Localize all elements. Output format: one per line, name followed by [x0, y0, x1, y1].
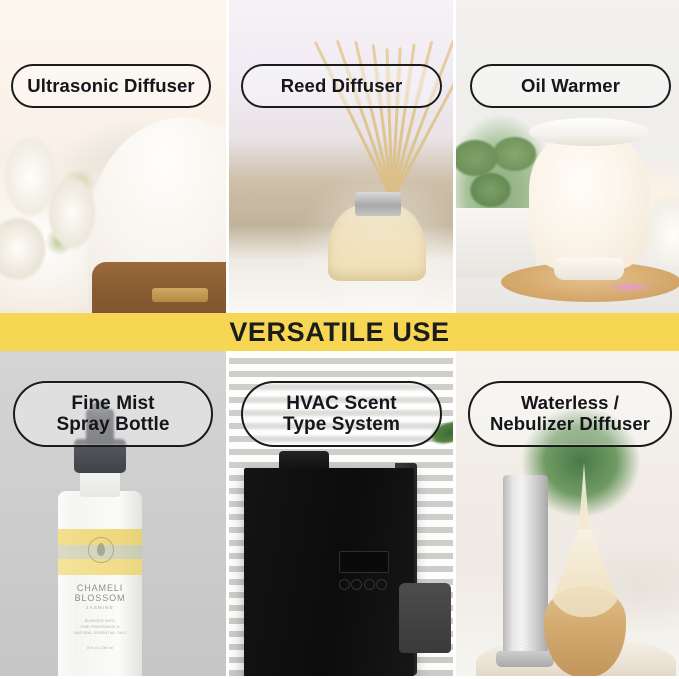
label-seal-icon	[88, 537, 114, 563]
reed-diffuser-cap	[355, 192, 401, 216]
hvac-lcd-display[interactable]	[339, 551, 389, 573]
label-line-1: Waterless /	[490, 393, 650, 414]
label-line-1: HVAC Scent	[283, 393, 400, 414]
nebulizer-indicator-led	[522, 639, 528, 641]
hvac-button-1[interactable]	[339, 579, 350, 590]
candle-glass	[644, 196, 679, 266]
reed-sticks	[337, 20, 447, 200]
bottle-label-description: BLENDED WITH FINE FRAGRANCE & NATURAL ES…	[58, 618, 142, 636]
bottle-label-name: CHAMELI BLOSSOM	[58, 583, 142, 603]
spray-bottle-neck	[80, 469, 120, 497]
hvac-button-4[interactable]	[376, 579, 387, 590]
oil-warmer-led-glow	[608, 282, 652, 292]
label-line-2: Nebulizer Diffuser	[490, 414, 650, 435]
waste-bin	[399, 583, 451, 653]
label-line-1: Fine Mist	[56, 393, 169, 414]
hvac-button-3[interactable]	[364, 579, 375, 590]
label-pill-reed-diffuser: Reed Diffuser	[241, 64, 442, 108]
ultrasonic-diffuser-badge	[152, 288, 208, 302]
nebulizer-glass-spout	[574, 463, 594, 529]
panel-reed-diffuser	[229, 0, 453, 313]
panel-ultrasonic-diffuser	[0, 0, 226, 313]
label-text-ultrasonic-diffuser: Ultrasonic Diffuser	[21, 76, 200, 97]
versatile-use-banner: VERSATILE USE	[0, 313, 679, 351]
label-text-fine-mist-spray-bottle: Fine Mist Spray Bottle	[50, 393, 175, 436]
versatile-use-infographic: CHAMELI BLOSSOM JASMINE BLENDED WITH FIN…	[0, 0, 679, 679]
nebulizer-cylinder-base	[496, 651, 554, 667]
bottle-label-variant: JASMINE	[58, 605, 142, 610]
label-text-oil-warmer: Oil Warmer	[515, 76, 626, 97]
label-text-waterless-nebulizer-diffuser: Waterless / Nebulizer Diffuser	[484, 393, 656, 434]
label-pill-ultrasonic-diffuser: Ultrasonic Diffuser	[11, 64, 211, 108]
label-line-2: Spray Bottle	[56, 414, 169, 435]
label-line-2: Type System	[283, 414, 400, 435]
metal-nebulizer-cylinder	[503, 475, 548, 665]
bottle-label: CHAMELI BLOSSOM JASMINE BLENDED WITH FIN…	[58, 583, 142, 650]
oil-warmer-dish	[529, 118, 649, 146]
bottle-label-volume: 8 fl oz | 236 ml	[58, 645, 142, 650]
label-pill-fine-mist-spray-bottle: Fine Mist Spray Bottle	[13, 381, 213, 447]
panel-oil-warmer	[456, 0, 679, 313]
reed-diffuser-bottle	[328, 205, 426, 281]
label-pill-hvac-scent-system: HVAC Scent Type System	[241, 381, 442, 447]
hvac-button-2[interactable]	[351, 579, 362, 590]
versatile-use-banner-text: VERSATILE USE	[229, 317, 449, 348]
label-text-hvac-scent-system: HVAC Scent Type System	[277, 393, 406, 436]
oil-warmer-foot	[554, 258, 624, 280]
nebulizer-glass-reservoir	[546, 521, 624, 617]
hvac-control-buttons[interactable]	[339, 579, 387, 589]
label-text-reed-diffuser: Reed Diffuser	[275, 76, 409, 97]
oil-warmer-body	[529, 130, 649, 270]
label-pill-waterless-nebulizer-diffuser: Waterless / Nebulizer Diffuser	[468, 381, 672, 447]
white-lily-flowers	[0, 130, 136, 310]
label-pill-oil-warmer: Oil Warmer	[470, 64, 671, 108]
